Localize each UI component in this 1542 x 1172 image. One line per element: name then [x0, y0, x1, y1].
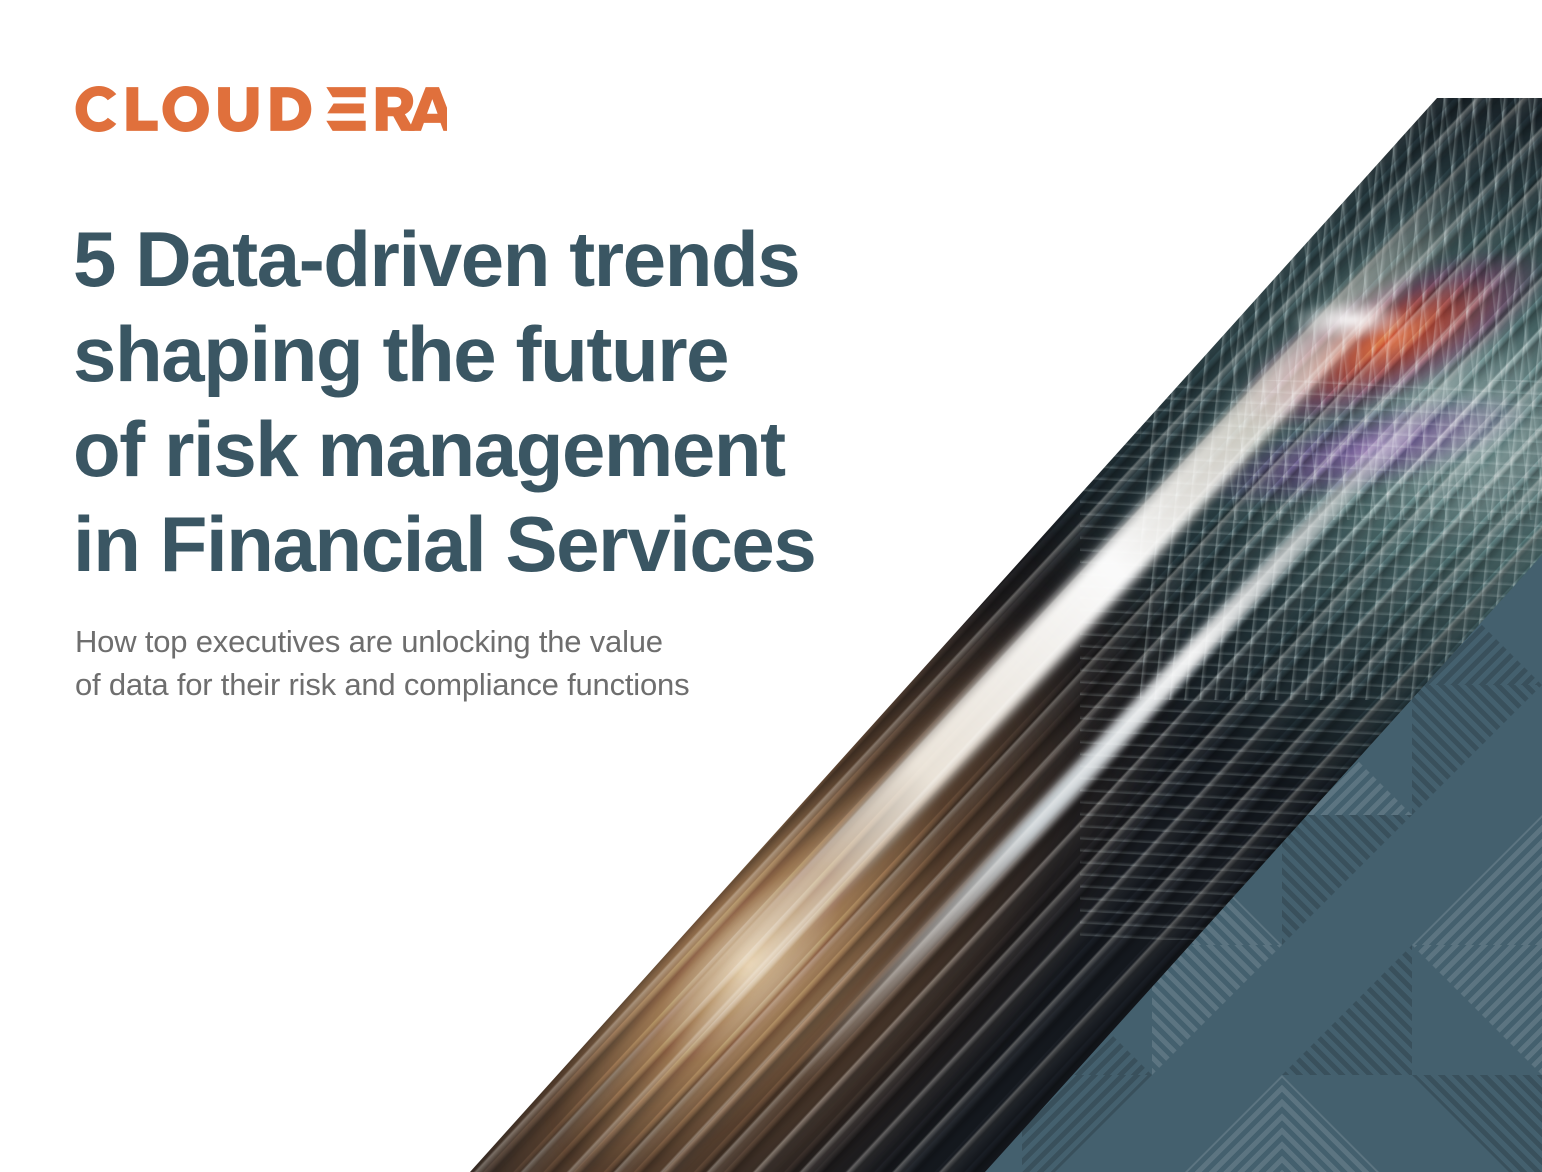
headline-line-1: 5 Data-driven trends: [73, 212, 973, 307]
geo-cell: [1412, 1075, 1542, 1172]
geo-cell: [1282, 945, 1412, 1075]
cloudera-wordmark-icon: [75, 86, 447, 132]
headline-line-4: in Financial Services: [73, 497, 973, 592]
page-subtitle: How top executives are unlocking the val…: [75, 620, 905, 706]
geo-triangle: [1282, 815, 1412, 945]
geo-triangle: [1412, 945, 1542, 1075]
geo-triangle: [1282, 1075, 1412, 1172]
subtitle-line-2: of data for their risk and compliance fu…: [75, 663, 905, 706]
headline-line-2: shaping the future: [73, 307, 973, 402]
geo-cell: [1282, 815, 1412, 945]
geo-cell: [1152, 1075, 1282, 1172]
geo-triangle: [1412, 685, 1542, 815]
geo-triangle: [1282, 945, 1412, 1075]
page-title: 5 Data-driven trends shaping the future …: [73, 212, 973, 592]
geo-cell: [1412, 945, 1542, 1075]
headline-line-3: of risk management: [73, 402, 973, 497]
subtitle-line-1: How top executives are unlocking the val…: [75, 620, 905, 663]
geo-triangle: [1412, 815, 1542, 945]
geo-triangle: [1152, 1075, 1282, 1172]
geo-cell: [1282, 1075, 1412, 1172]
cover-page: 5 Data-driven trends shaping the future …: [0, 0, 1542, 1172]
cloudera-logo[interactable]: [75, 86, 447, 132]
geo-cell: [1412, 685, 1542, 815]
geo-triangle: [1412, 1075, 1542, 1172]
geo-cell: [1412, 815, 1542, 945]
